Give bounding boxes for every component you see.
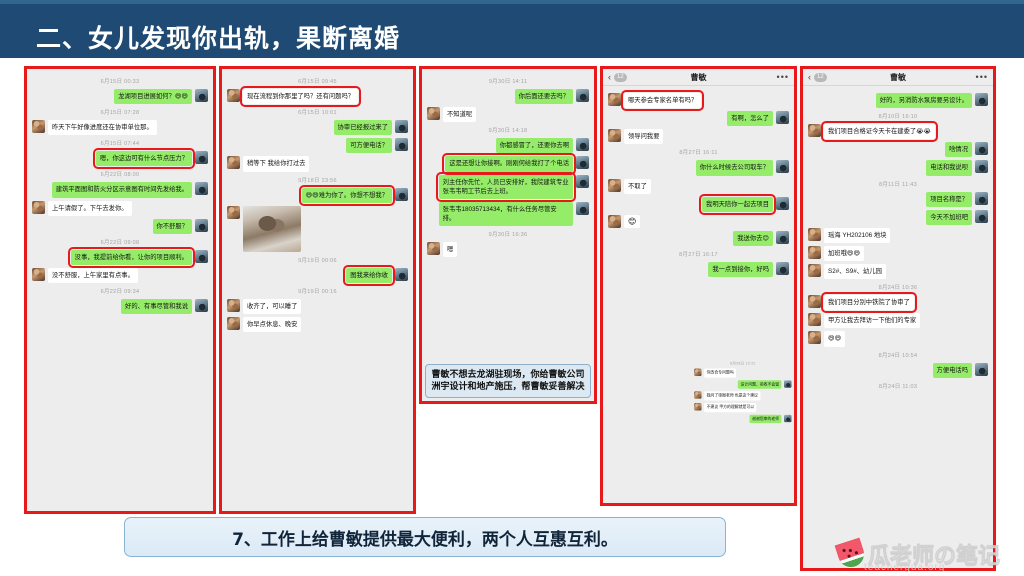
message-timestamp: 8月11日 11:43 <box>808 180 988 188</box>
message-row: S2#、S9#、幼儿园 <box>808 264 988 279</box>
message-list: 好的，另消防水泵房要另设计。8月10日 16:10我们项目合格证今天卡在建委了😭… <box>803 86 993 398</box>
slide-root: 二、女儿发现你出轨，果断离婚 6月15日 00:33龙湖项目进展如何？😄😄6月1… <box>0 0 1024 576</box>
message-timestamp: 6月15日 09:45 <box>227 77 408 85</box>
message-bubble[interactable]: 甲方让我去拜访一下他们的专家 <box>824 313 920 328</box>
message-row: 没不舒服，上午家里有点事。 <box>32 268 208 283</box>
avatar <box>195 299 208 312</box>
message-row: 你后面还要去吗？ <box>427 89 589 104</box>
message-row: 你改合专问题吗 <box>694 369 792 378</box>
message-bubble[interactable]: 你不舒服？ <box>153 219 192 234</box>
message-bubble[interactable]: 昨天下午好像进度还在协审单位那。 <box>48 120 157 135</box>
message-timestamp: 9月30日 16:36 <box>427 230 589 238</box>
message-timestamp: 8月27日 16:17 <box>608 250 789 258</box>
bottom-caption: 7、工作上给曹敏提供最大便利，两个人互惠互利。 <box>124 517 726 557</box>
message-bubble[interactable]: 不知道呢 <box>443 107 476 122</box>
message-list: 9月30日 14:11你后面还要去吗？不知道呢9月30日 14:18你都感冒了，… <box>422 69 594 264</box>
message-row: 你都感冒了，还要你去啊 <box>427 138 589 153</box>
message-timestamp: 8月24日 10:36 <box>808 283 988 291</box>
avatar <box>227 206 240 219</box>
chat-contact-name: 曹敏 <box>803 72 993 83</box>
message-row: 瑶海 YH202106 地块 <box>808 228 988 243</box>
message-bubble[interactable]: 不取了 <box>624 179 651 194</box>
avatar <box>808 124 821 137</box>
wechat-nav-bar: ‹12曹敏••• <box>603 69 794 86</box>
message-bubble[interactable]: 设计问题、验收不会留 <box>738 380 782 389</box>
message-list: 哪天参会专家名单有吗？有啊，怎么了领导问我要8月27日 16:11你什么时候去公… <box>603 86 794 284</box>
message-row: 谢谢您审的老师 <box>694 415 792 424</box>
message-bubble-highlighted[interactable]: 我们项目分别中铁院了协审了 <box>824 295 914 310</box>
message-bubble[interactable]: 你改合专问题吗 <box>704 369 736 378</box>
message-bubble[interactable]: 加班哦😄😄 <box>824 246 864 261</box>
message-bubble-highlighted[interactable]: 图我来给你收 <box>346 268 392 283</box>
message-bubble[interactable]: S2#、S9#、幼儿园 <box>824 264 886 279</box>
avatar <box>576 138 589 151</box>
avatar <box>576 156 589 169</box>
message-bubble[interactable]: 你早点休息、晚安 <box>243 317 301 332</box>
message-row: 嗯 <box>427 242 589 257</box>
message-timestamp: 6月22日 09:08 <box>32 238 208 246</box>
chat-screenshot-body: 9月30日 14:11你后面还要去吗？不知道呢9月30日 14:18你都感冒了，… <box>422 69 594 401</box>
message-row: 你不舒服？ <box>32 219 208 234</box>
message-bubble[interactable]: 没不舒服，上午家里有点事。 <box>48 268 138 283</box>
message-bubble[interactable]: 项目名称是？ <box>926 192 972 207</box>
avatar <box>576 89 589 102</box>
chat-screenshot-body: ‹12曹敏•••好的，另消防水泵房要另设计。8月10日 16:10我们项目合格证… <box>803 69 993 568</box>
avatar <box>808 331 821 344</box>
avatar <box>808 264 821 277</box>
avatar <box>975 192 988 205</box>
avatar <box>784 380 792 388</box>
avatar <box>395 120 408 133</box>
chat-contact-name: 曹敏 <box>603 72 794 83</box>
chat-screenshot-body: ‹12曹敏•••哪天参会专家名单有吗？有啊，怎么了领导问我要8月27日 16:1… <box>603 69 794 503</box>
avatar <box>195 219 208 232</box>
chat-screenshot-5: ‹12曹敏•••好的，另消防水泵房要另设计。8月10日 16:10我们项目合格证… <box>800 66 996 571</box>
message-row: 我一点到接你，好吗 <box>608 262 789 277</box>
avatar <box>694 403 702 411</box>
avatar <box>776 197 789 210</box>
message-row: 我们项目合格证今天卡在建委了😭😭 <box>808 124 988 139</box>
message-bubble[interactable]: 😄😄 <box>824 331 845 346</box>
slide-header-bar: 二、女儿发现你出轨，果断离婚 <box>0 4 1024 58</box>
annotation-callout: 曹敏不想去龙湖驻现场，你给曹敏公司洲宇设计和地产施压，帮曹敏妥善解决 <box>425 364 591 398</box>
message-row: 甲方让我去拜访一下他们的专家 <box>808 313 988 328</box>
avatar <box>975 142 988 155</box>
avatar <box>576 175 589 188</box>
message-timestamp: 6月15日 07:44 <box>32 139 208 147</box>
message-row: 稍等下 我给你打过去 <box>227 156 408 171</box>
message-row: 这是还想让你接啊。刚刚何给我打了个电话 <box>427 156 589 171</box>
avatar <box>808 313 821 326</box>
wechat-nav-bar: ‹12曹敏••• <box>803 69 993 86</box>
avatar <box>395 268 408 281</box>
chat-screenshot-2: 6月15日 09:45现在流程到你那里了吗？还有问题吗？6月15日 10:01协… <box>219 66 416 514</box>
message-bubble[interactable]: 收齐了，可以睡了 <box>243 299 301 314</box>
avatar <box>227 317 240 330</box>
message-row: 今天不加班吧 <box>808 210 988 225</box>
message-row: 😊 <box>608 215 789 228</box>
message-row: 哪天参会专家名单有吗？ <box>608 93 789 108</box>
message-bubble[interactable]: 张韦韦18035713434，有什么任务尽管安排。 <box>439 202 573 226</box>
avatar <box>195 89 208 102</box>
message-timestamp: 6月15日 07:28 <box>32 108 208 116</box>
avatar <box>227 156 240 169</box>
avatar <box>776 262 789 275</box>
message-row: 不取了 <box>608 179 789 194</box>
avatar <box>608 215 621 228</box>
message-row: 我问了审图老师 也是这个建议 <box>694 392 792 401</box>
message-timestamp: 6月15日 00:33 <box>32 77 208 85</box>
chat-screenshot-3: 9月30日 14:11你后面还要去吗？不知道呢9月30日 14:18你都感冒了，… <box>419 66 597 404</box>
chat-screenshot-4: ‹12曹敏•••哪天参会专家名单有吗？有啊，怎么了领导问我要8月27日 16:1… <box>600 66 797 506</box>
avatar <box>776 231 789 244</box>
message-bubble[interactable]: 我送你去😊 <box>733 231 773 246</box>
message-list: 6月15日 00:33龙湖项目进展如何？😄😄6月15日 07:28昨天下午好像进… <box>27 69 213 321</box>
message-bubble-highlighted[interactable]: 没事，我提前给你看，让你的项目顺利。 <box>71 250 192 265</box>
message-row: 嗯，你这边可有什么节点压力？ <box>32 151 208 166</box>
avatar <box>195 250 208 263</box>
message-bubble[interactable]: 你后面还要去吗？ <box>515 89 573 104</box>
message-bubble[interactable]: 今天不加班吧 <box>926 210 972 225</box>
message-timestamp: 8月24日 10:54 <box>808 351 988 359</box>
message-row: 啥情况 <box>808 142 988 157</box>
message-bubble[interactable]: 不建议 甲方的理解就是可以 <box>704 403 756 412</box>
avatar <box>975 93 988 106</box>
message-bubble[interactable]: 好的，另消防水泵房要另设计。 <box>876 93 972 108</box>
message-row: 现在流程到你那里了吗？还有问题吗？ <box>227 89 408 104</box>
photo-message[interactable] <box>243 206 301 252</box>
avatar <box>32 201 45 214</box>
message-bubble-highlighted[interactable]: 刘主任你先忙，人员已安排好，我院建筑专业张韦韦明工节后去上班。 <box>439 175 573 199</box>
message-bubble-highlighted[interactable]: 哪天参会专家名单有吗？ <box>624 93 701 108</box>
message-row: 可方便电话？ <box>227 138 408 153</box>
avatar <box>694 392 702 400</box>
message-bubble[interactable]: 电话和我说呗 <box>926 160 972 175</box>
message-timestamp: 9月18日 23:56 <box>227 176 408 184</box>
message-row: 设计问题、验收不会留 <box>694 380 792 389</box>
message-row: 没事，我提前给你看，让你的项目顺利。 <box>32 250 208 265</box>
avatar <box>608 93 621 106</box>
message-row: 协审已经报过来了 <box>227 120 408 135</box>
message-row: 收齐了，可以睡了 <box>227 299 408 314</box>
avatar <box>395 188 408 201</box>
avatar <box>694 369 702 377</box>
avatar <box>227 299 240 312</box>
message-row: 我送你去😊 <box>608 231 789 246</box>
message-timestamp: 6月15日 10:01 <box>227 108 408 116</box>
message-row: 好的、有事尽管和我说 <box>32 299 208 314</box>
message-row: 张韦韦18035713434，有什么任务尽管安排。 <box>427 202 589 226</box>
message-row: 上午请假了。下午去发你。 <box>32 201 208 216</box>
message-row: 项目名称是？ <box>808 192 988 207</box>
message-row: 领导问我要 <box>608 129 789 144</box>
message-bubble[interactable]: 有啊，怎么了 <box>727 111 773 126</box>
avatar <box>608 179 621 192</box>
message-row: 建筑平面图和防火分区示意图有时间先发给我。 <box>32 182 208 197</box>
message-row: 😄😄 <box>808 331 988 346</box>
message-row <box>227 206 408 252</box>
message-timestamp: 8月24日 11:03 <box>808 382 988 390</box>
message-row: 龙湖项目进展如何？😄😄 <box>32 89 208 104</box>
page-title: 二、女儿发现你出轨，果断离婚 <box>36 19 400 55</box>
chat-screenshot-body: 6月15日 00:33龙湖项目进展如何？😄😄6月15日 07:28昨天下午好像进… <box>27 69 213 511</box>
message-bubble[interactable]: 我一点到接你，好吗 <box>708 262 773 277</box>
message-bubble[interactable]: 协审已经报过来了 <box>334 120 392 135</box>
avatar <box>975 210 988 223</box>
avatar <box>808 246 821 259</box>
message-row: 电话和我说呗 <box>808 160 988 175</box>
avatar <box>608 129 621 142</box>
message-list: 6月15日 09:45现在流程到你那里了吗？还有问题吗？6月15日 10:01协… <box>222 69 413 339</box>
message-row: 有啊，怎么了 <box>608 111 789 126</box>
message-row: 你什么时候去公司取车？ <box>608 160 789 175</box>
message-row: 加班哦😄😄 <box>808 246 988 261</box>
message-bubble[interactable]: 你什么时候去公司取车？ <box>696 160 773 175</box>
message-timestamp: 8月10日 16:10 <box>808 112 988 120</box>
avatar <box>808 228 821 241</box>
message-bubble-highlighted[interactable]: 这是还想让你接啊。刚刚何给我打了个电话 <box>445 156 573 171</box>
message-bubble[interactable]: 领导问我要 <box>624 129 663 144</box>
message-bubble-highlighted[interactable]: 我们项目合格证今天卡在建委了😭😭 <box>824 124 935 139</box>
message-bubble[interactable]: 上午请假了。下午去发你。 <box>48 201 132 216</box>
avatar <box>427 107 440 120</box>
message-bubble[interactable]: 方便电话吗 <box>933 363 972 378</box>
message-bubble[interactable]: 可方便电话？ <box>346 138 392 153</box>
message-row: 刘主任你先忙，人员已安排好，我院建筑专业张韦韦明工节后去上班。 <box>427 175 589 199</box>
message-bubble[interactable]: 我问了审图老师 也是这个建议 <box>704 392 760 401</box>
message-row: 不知道呢 <box>427 107 589 122</box>
message-timestamp: 9月30日 14:11 <box>427 77 589 85</box>
avatar <box>975 363 988 376</box>
message-bubble[interactable]: 好的、有事尽管和我说 <box>121 299 192 314</box>
message-row: 😄😄难为你了。你想不想我？ <box>227 188 408 203</box>
message-timestamp: 8月27日 16:11 <box>608 148 789 156</box>
message-bubble[interactable]: 啥情况 <box>945 142 972 157</box>
avatar <box>776 111 789 124</box>
message-timestamp: 9月19日 00:06 <box>227 256 408 264</box>
message-row: 你早点休息、晚安 <box>227 317 408 332</box>
avatar <box>576 202 589 215</box>
avatar <box>808 295 821 308</box>
avatar <box>32 120 45 133</box>
message-bubble[interactable]: 谢谢您审的老师 <box>749 415 781 424</box>
caption-text: 7、工作上给曹敏提供最大便利，两个人互惠互利。 <box>232 525 618 550</box>
avatar <box>776 160 789 173</box>
avatar <box>227 89 240 102</box>
message-bubble[interactable]: 你都感冒了，还要你去啊 <box>496 138 573 153</box>
avatar <box>195 151 208 164</box>
chat-screenshot-body: 6月15日 09:45现在流程到你那里了吗？还有问题吗？6月15日 10:01协… <box>222 69 413 511</box>
message-bubble-highlighted[interactable]: 嗯，你这边可有什么节点压力？ <box>96 151 192 166</box>
message-bubble-highlighted[interactable]: 现在流程到你那里了吗？还有问题吗？ <box>243 89 358 104</box>
message-row: 昨天下午好像进度还在协审单位那。 <box>32 120 208 135</box>
message-row: 图我来给你收 <box>227 268 408 283</box>
avatar <box>32 268 45 281</box>
avatar <box>395 138 408 151</box>
message-timestamp: 8月28日 10:22 <box>694 361 792 366</box>
message-bubble[interactable]: 龙湖项目进展如何？😄😄 <box>114 89 192 104</box>
message-bubble[interactable]: 嗯 <box>443 242 457 257</box>
avatar <box>784 415 792 423</box>
message-row: 好的，另消防水泵房要另设计。 <box>808 93 988 108</box>
message-timestamp: 9月19日 00:16 <box>227 287 408 295</box>
nested-chat-screenshot: 8月28日 10:22你改合专问题吗设计问题、验收不会留我问了审图老师 也是这个… <box>691 357 794 503</box>
message-timestamp: 6月22日 09:34 <box>32 287 208 295</box>
message-timestamp: 6月22日 08:00 <box>32 170 208 178</box>
avatar <box>195 182 208 195</box>
message-bubble[interactable]: 瑶海 YH202106 地块 <box>824 228 890 243</box>
sticker-message[interactable]: 😊 <box>624 215 640 228</box>
message-bubble[interactable]: 建筑平面图和防火分区示意图有时间先发给我。 <box>52 182 192 197</box>
message-timestamp: 9月30日 14:18 <box>427 126 589 134</box>
message-bubble-highlighted[interactable]: 我明天陪你一起去项目 <box>702 197 773 212</box>
message-row: 我明天陪你一起去项目 <box>608 197 789 212</box>
message-row: 方便电话吗 <box>808 363 988 378</box>
message-row: 我们项目分别中铁院了协审了 <box>808 295 988 310</box>
avatar <box>975 160 988 173</box>
message-bubble[interactable]: 稍等下 我给你打过去 <box>243 156 309 171</box>
message-row: 不建议 甲方的理解就是可以 <box>694 403 792 412</box>
message-bubble-highlighted[interactable]: 😄😄难为你了。你想不想我？ <box>302 188 392 203</box>
avatar <box>427 242 440 255</box>
chat-screenshot-1: 6月15日 00:33龙湖项目进展如何？😄😄6月15日 07:28昨天下午好像进… <box>24 66 216 514</box>
